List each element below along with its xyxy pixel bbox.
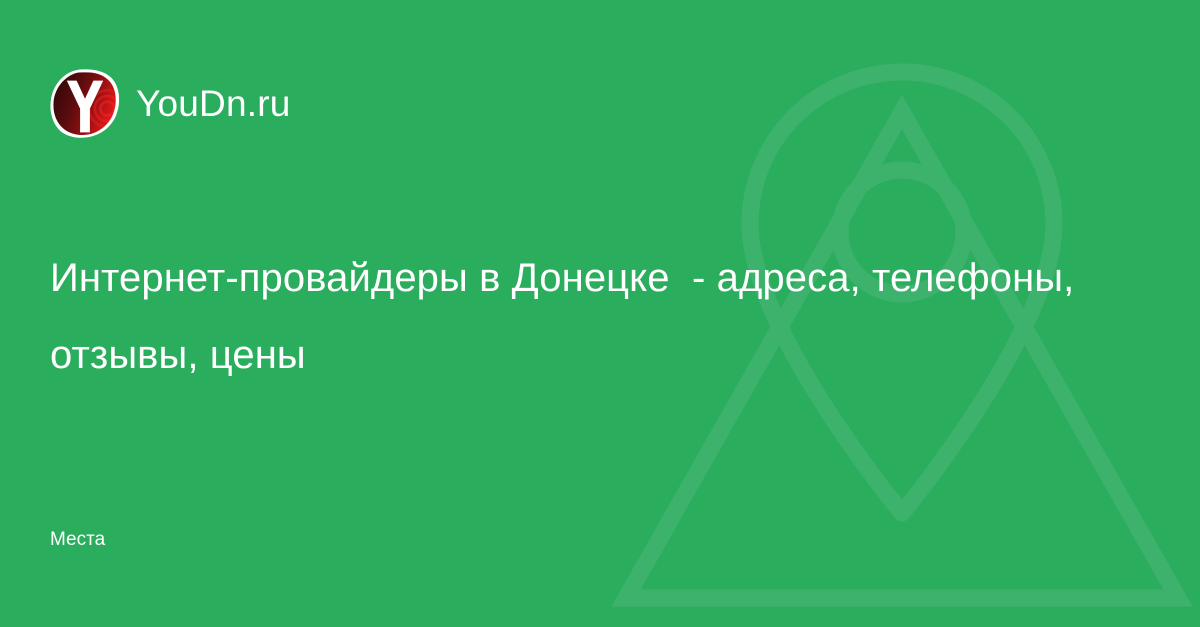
brand-name-label: YouDn.ru — [136, 85, 291, 122]
category-label: Места — [50, 530, 105, 549]
page-title: Интернет-провайдеры в Донецке - адреса, … — [50, 240, 1120, 394]
youdn-logo-icon — [50, 68, 120, 138]
share-card: YouDn.ru Интернет-провайдеры в Донецке -… — [0, 0, 1200, 627]
brand-logo-row[interactable]: YouDn.ru — [50, 68, 291, 138]
